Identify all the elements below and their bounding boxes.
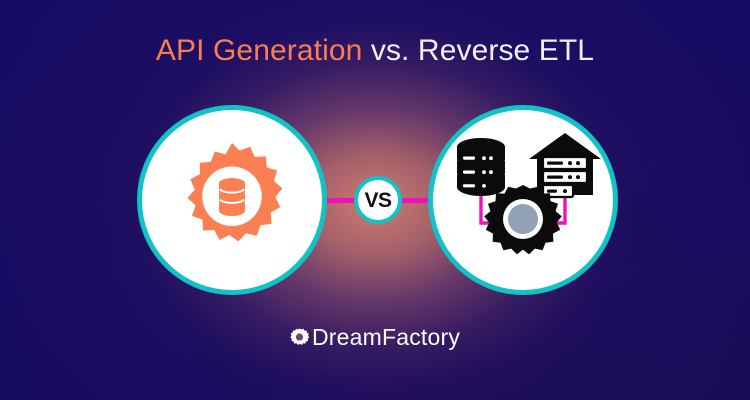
gear-icon — [290, 328, 309, 347]
versus-label: VS — [364, 190, 391, 211]
left-concept-circle — [137, 105, 327, 295]
title-plain-text: vs. Reverse ETL — [362, 34, 594, 67]
right-concept-circle — [428, 105, 618, 295]
title-accent-text: API Generation — [156, 34, 363, 67]
gear-hub — [508, 204, 538, 234]
brand-name: DreamFactory — [312, 326, 460, 349]
database-glyph — [219, 178, 245, 216]
left-icon-wrap — [142, 110, 322, 290]
page-title: API Generation vs. Reverse ETL — [0, 36, 750, 66]
reverse-etl-diagram — [443, 125, 603, 275]
promo-graphic: API Generation vs. Reverse ETL — [0, 0, 750, 400]
brand-logo: DreamFactory — [0, 326, 750, 349]
versus-badge: VS — [354, 176, 402, 224]
right-icon-wrap — [433, 110, 613, 290]
gear-with-database-icon — [170, 138, 294, 262]
